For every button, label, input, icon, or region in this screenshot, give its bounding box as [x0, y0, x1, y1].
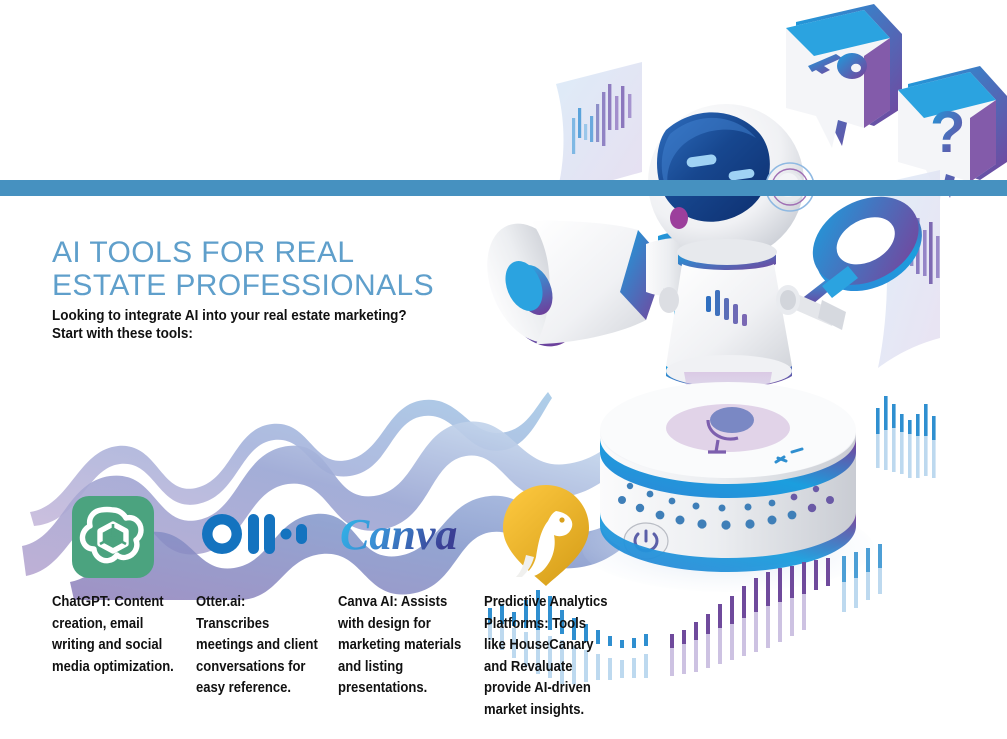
robot-torso	[659, 264, 800, 388]
page-subtitle: Looking to integrate AI into your real e…	[52, 307, 452, 343]
tool-description-chatgpt: ChatGPT: Content creation, email writing…	[52, 592, 189, 678]
tool-description-otter: Otter.ai: Transcribes meetings and clien…	[196, 592, 322, 700]
otter-ai-logo[interactable]	[200, 510, 310, 558]
waveform-panel-left	[556, 62, 642, 196]
tool-lead-canva: Canva AI:	[338, 594, 398, 610]
chatgpt-logo[interactable]	[72, 496, 154, 578]
tool-lead-chatgpt: ChatGPT:	[52, 594, 111, 610]
tool-lead-predictive-analytics: Predictive Analytics Platforms:	[484, 594, 608, 632]
speech-bubble-key-icon	[786, 4, 902, 148]
canva-wordmark-icon: Canva	[338, 507, 478, 563]
tool-lead-otter: Otter.ai:	[196, 594, 245, 610]
housecanary-pin-bird-icon	[500, 483, 592, 588]
svg-text:Canva: Canva	[340, 510, 457, 559]
side-waveform-bars	[876, 396, 936, 478]
infographic-canvas: AI TOOLS FOR REAL ESTATE PROFESSIONALS L…	[0, 0, 1007, 739]
tool-body-otter: Transcribes meetings and client conversa…	[196, 616, 318, 697]
housecanary-logo[interactable]	[500, 483, 592, 588]
chatgpt-knot-icon	[72, 496, 154, 578]
tool-description-canva: Canva AI: Assists with design for market…	[338, 592, 475, 700]
svg-text:?: ?	[930, 100, 965, 165]
otter-ai-mark-icon	[200, 510, 310, 558]
canva-logo[interactable]: Canva	[338, 507, 478, 563]
header-divider-band	[0, 180, 1007, 196]
robot-base	[582, 382, 874, 592]
page-title: AI TOOLS FOR REAL ESTATE PROFESSIONALS	[52, 236, 572, 302]
tool-description-predictive-analytics: Predictive Analytics Platforms: Tools li…	[484, 592, 610, 721]
